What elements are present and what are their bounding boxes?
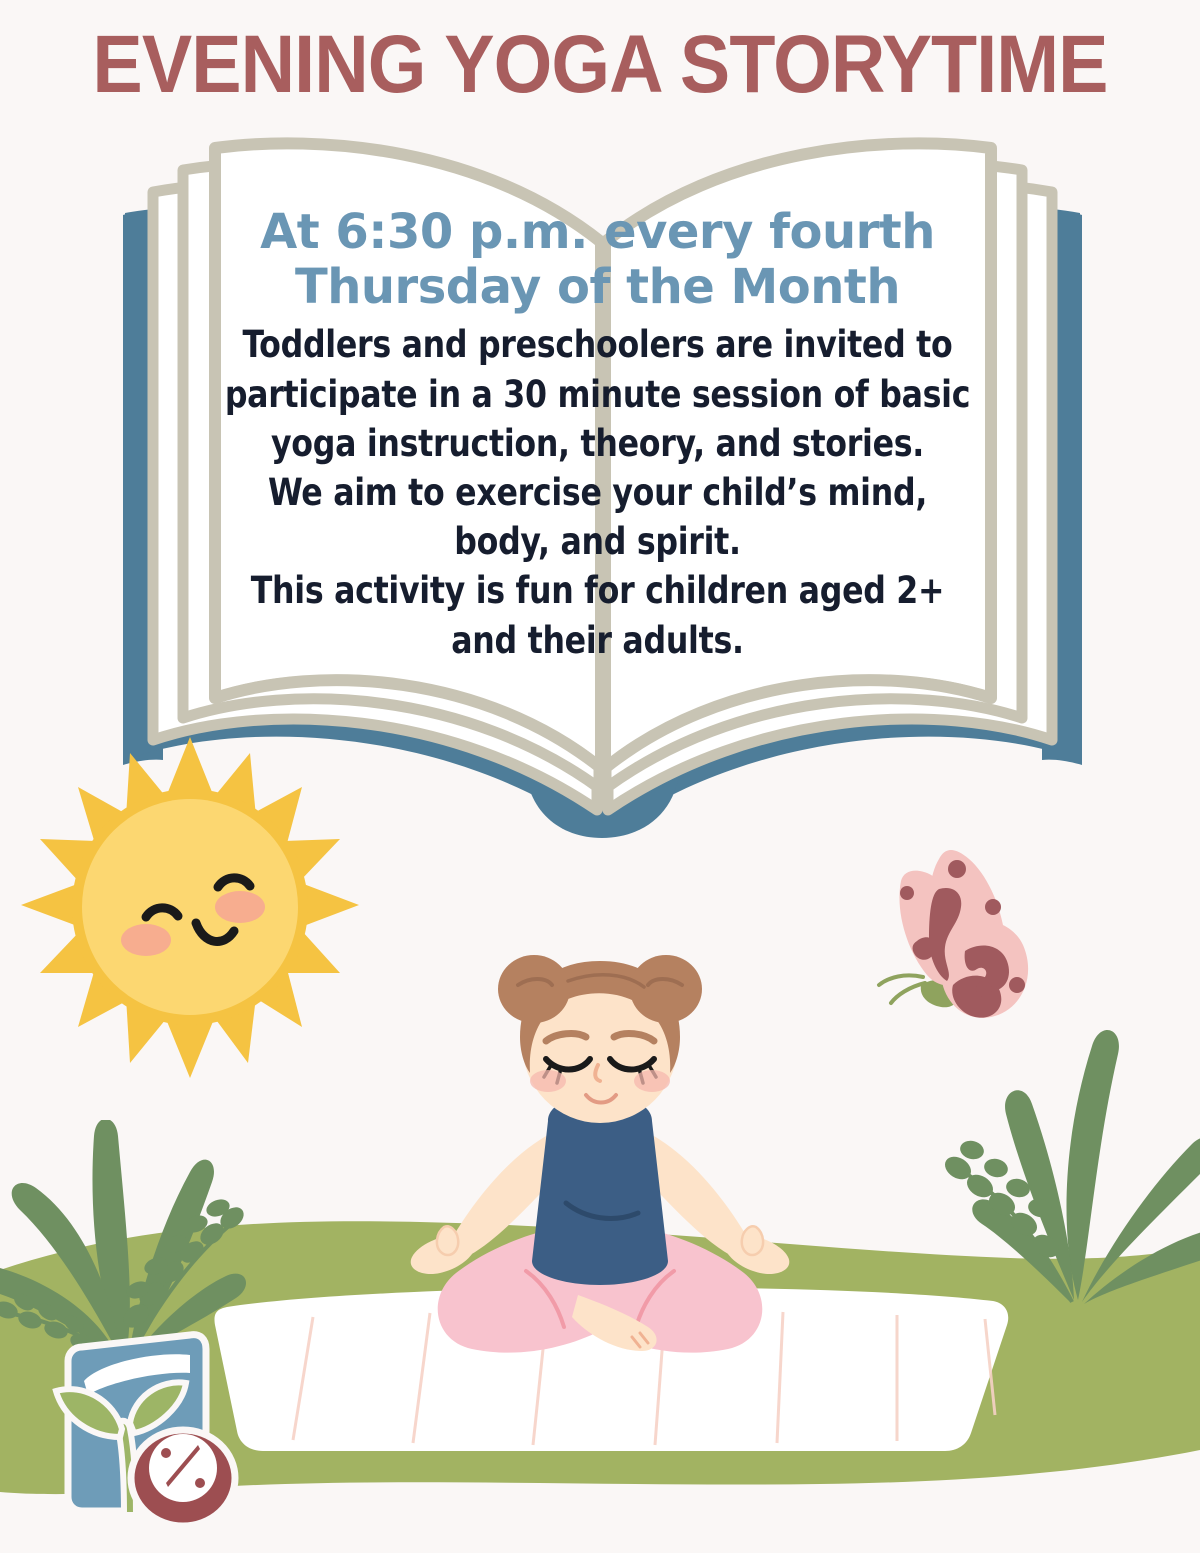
plant-right (910, 1010, 1200, 1310)
body-line-5: body, and spirit. (215, 517, 980, 566)
book-text-block: At 6:30 p.m. every fourth Thursday of th… (195, 205, 1000, 665)
butterfly (865, 845, 1050, 1035)
logo-compass-icon (131, 1430, 235, 1526)
body-line-6: This activity is fun for children aged 2… (215, 566, 980, 615)
body-line-4: We aim to exercise your child’s mind, (215, 468, 980, 517)
body-line-2: participate in a 30 minute session of ba… (215, 370, 980, 419)
event-headline: At 6:30 p.m. every fourth Thursday of th… (195, 205, 1000, 314)
child-yoga-figure (400, 955, 800, 1400)
page-title: EVENING YOGA STORYTIME (48, 22, 1152, 108)
body-line-7: and their adults. (215, 616, 980, 665)
body-line-3: yoga instruction, theory, and stories. (215, 419, 980, 468)
body-line-1: Toddlers and preschoolers are invited to (215, 320, 980, 369)
poster-canvas: EVENING YOGA STORYTIME At 6:30 p (0, 0, 1200, 1553)
butterfly-antennae (879, 975, 925, 1003)
sun-character (18, 735, 363, 1080)
library-logo (40, 1325, 250, 1540)
